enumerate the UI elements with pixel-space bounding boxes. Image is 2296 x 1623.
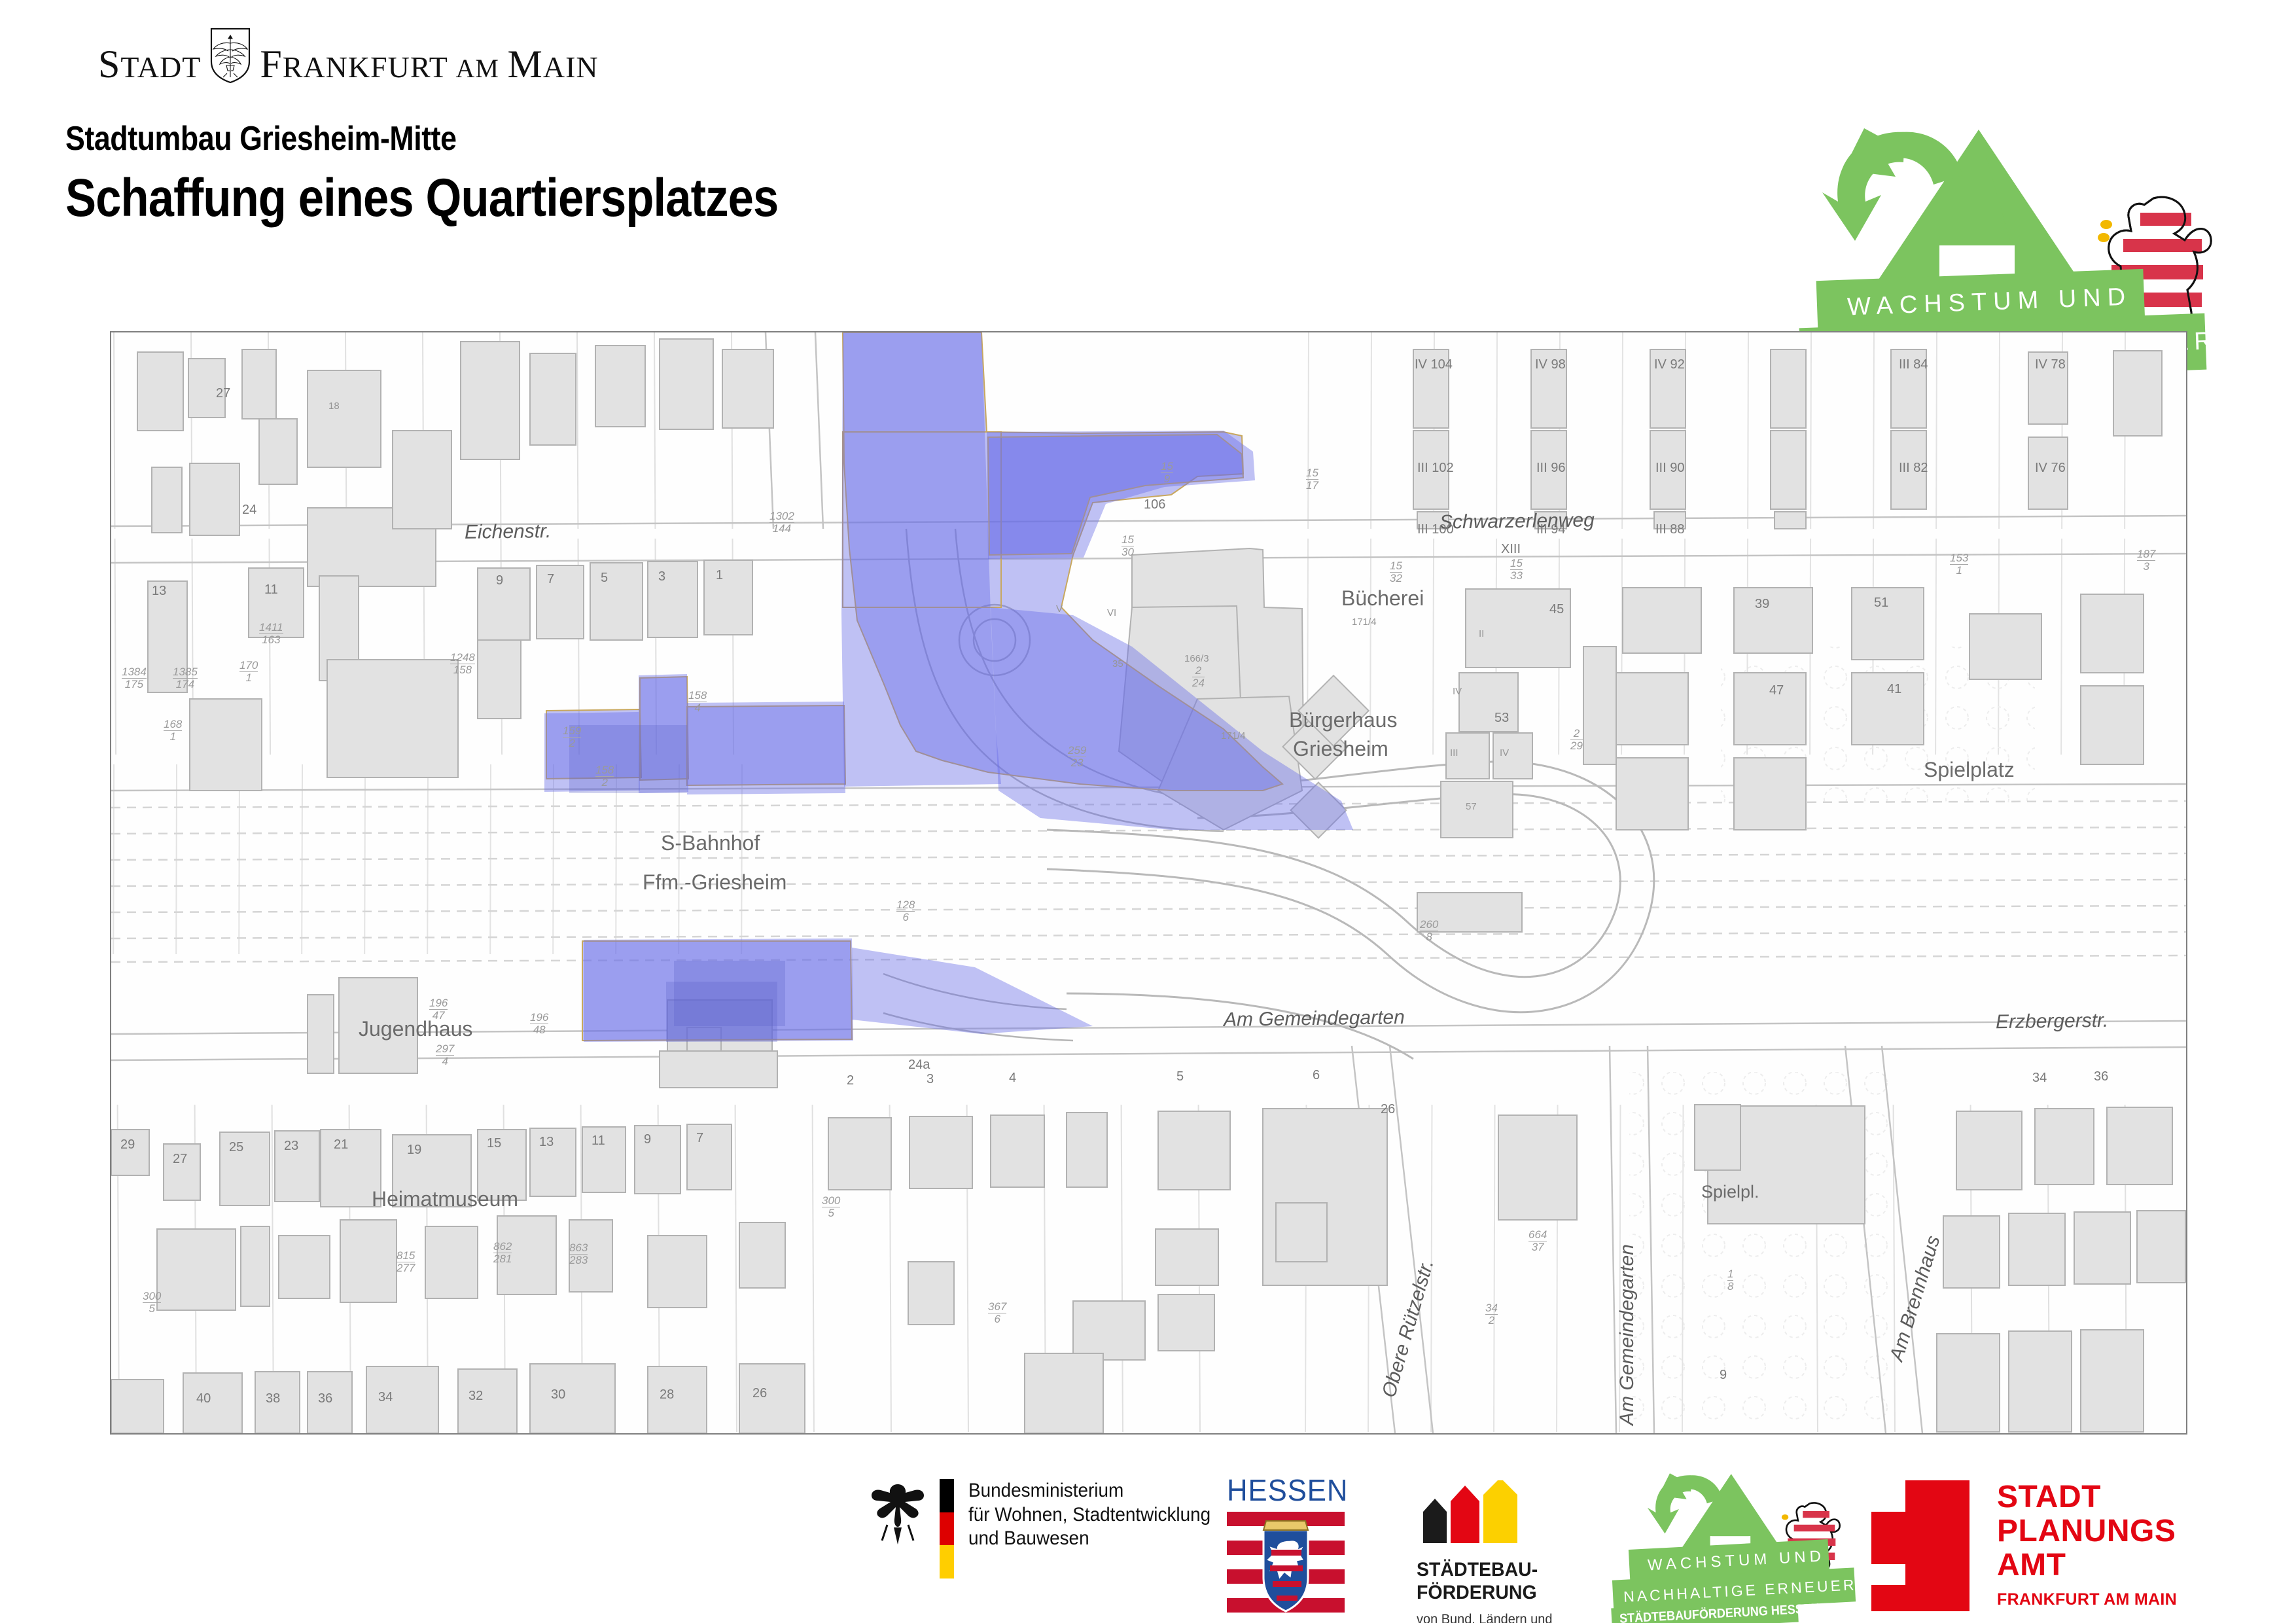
staedtebau-sub1: von Bund, Ländern und [1417, 1611, 1622, 1623]
parcel-fraction-num: 128 [896, 899, 915, 912]
footer-logo-row: Bundesministerium für Wohnen, Stadtentwi… [0, 1466, 2296, 1623]
parcel-fraction: 3676 [988, 1301, 1006, 1325]
parcel-fraction-num: 168 [164, 719, 182, 731]
parcel-fraction: 1531 [1950, 552, 1968, 577]
parcel-fraction-den: 1 [169, 730, 175, 743]
spa-city: FRANKFURT AM MAIN [1997, 1591, 2177, 1609]
house-number: 5 [601, 571, 608, 586]
parcel-fraction: 3005 [143, 1291, 161, 1315]
house-number: 7 [696, 1131, 703, 1146]
title-block: Stadtumbau Griesheim-Mitte Schaffung ein… [65, 119, 894, 229]
parcel-fraction-num: 158 [688, 690, 707, 702]
storey-label: VI [1107, 607, 1116, 618]
parcel-fraction-den: 175 [125, 678, 143, 690]
parcel-fraction: 1302144 [769, 510, 794, 535]
staedtebau-line2: FÖRDERUNG [1417, 1581, 1622, 1604]
parcel-fraction-den: 6 [994, 1313, 1000, 1325]
street-label-am-gemeindegarten-vertical: Am Gemeindegarten [1616, 1244, 1638, 1425]
house-number: 36 [318, 1391, 332, 1406]
parcel-fraction: 1873 [2137, 548, 2155, 573]
parcel-fraction-den: 283 [569, 1254, 588, 1266]
parcel-fraction-num: 1302 [769, 510, 794, 523]
parcel-fraction-num: 158 [595, 764, 614, 777]
house-number: 26 [1381, 1102, 1395, 1117]
house-number: 38 [266, 1391, 280, 1406]
house-number: IV 76 [2035, 461, 2066, 476]
house-number: 1 [716, 568, 723, 583]
parcel-fraction-den: 24 [1192, 677, 1205, 689]
bmwsb-line1: Bundesministerium [968, 1479, 1210, 1503]
stadtplanungsamt-mark-icon [1858, 1480, 1969, 1611]
parcel-fraction: 3005 [822, 1195, 840, 1219]
poi-label-heimatmuseum: Heimatmuseum [372, 1187, 518, 1211]
parcel-fraction: 342 [1485, 1302, 1498, 1327]
parcel-fraction-den: 5 [149, 1302, 154, 1315]
house-number: IV 104 [1415, 357, 1453, 372]
parcel-fraction-den: 23 [1071, 757, 1084, 769]
parcel-fraction-den: 1 [1956, 564, 1962, 577]
parcel-fraction: 862281 [493, 1241, 512, 1265]
frankfurt-eagle-crest-icon [210, 27, 251, 84]
program-logo-footer: WACHSTUM UND NACHHALTIGE ERNEUERUNG STÄD… [1606, 1479, 1881, 1616]
staedtebau-line1: STÄDTEBAU- [1417, 1558, 1622, 1581]
bmwsb-logo: Bundesministerium für Wohnen, Stadtentwi… [870, 1479, 1229, 1578]
house-number: 24 [242, 503, 256, 518]
house-number: 4 [1009, 1071, 1016, 1086]
parcel-fraction-num: 367 [988, 1301, 1006, 1313]
storey-label: 171/4 [1352, 616, 1377, 628]
street-label-am-gemeindegarten: Am Gemeindegarten [1224, 1007, 1405, 1031]
parcel-fraction: 1248158 [450, 652, 475, 676]
map-canvas: Eichenstr. Schwarzerlenweg Am Gemeindega… [111, 332, 2186, 1433]
hessen-wordmark: HESSEN [1227, 1472, 1351, 1508]
parcel-fraction-num: 2 [1192, 665, 1205, 677]
house-number: 11 [264, 582, 278, 597]
house-number: 34 [378, 1390, 393, 1405]
house-number: 15 [487, 1136, 501, 1151]
house-number: 19 [407, 1143, 421, 1158]
storey-label: V [1056, 603, 1063, 615]
parcel-fraction: 66437 [1528, 1229, 1547, 1253]
parcel-fraction-den: 3 [2143, 560, 2149, 573]
parcel-fraction-num: 664 [1528, 1229, 1547, 1241]
house-number: 106 [1144, 497, 1165, 512]
parcel-fraction-num: 1384 [122, 666, 147, 679]
parcel-fraction: 1533 [1510, 558, 1523, 582]
parcel-fraction: 18 [1727, 1268, 1733, 1293]
parcel-fraction-num: 15 [1390, 560, 1402, 573]
storey-label: 171/4 [1221, 730, 1246, 741]
parcel-fraction: 1411163 [259, 622, 283, 646]
stadtplanungsamt-logo: STADT PLANUNGS AMT FRANKFURT AM MAIN [1858, 1480, 2177, 1611]
hessen-state-crest-icon [1227, 1512, 1345, 1620]
parcel-fraction-den: 277 [397, 1262, 415, 1274]
parcel-fraction-num: 187 [2137, 548, 2155, 561]
bmwsb-text: Bundesministerium für Wohnen, Stadtentwi… [968, 1479, 1210, 1551]
parcel-fraction-den: 33 [1510, 569, 1523, 582]
parcel-fraction: 25923 [1068, 745, 1086, 769]
poi-label-griesheim: Griesheim [1293, 737, 1388, 761]
house-number: XIII [1501, 542, 1521, 557]
parcel-fraction-num: 1 [1727, 1268, 1733, 1281]
parcel-fraction: 1584 [688, 690, 707, 714]
house-number: 2 [847, 1073, 854, 1088]
street-label-schwarzerlenweg: Schwarzerlenweg [1439, 509, 1595, 533]
parcel-number: 45 [1549, 602, 1564, 617]
street-label-eichenstr: Eichenstr. [465, 520, 552, 544]
parcel-fraction: 229 [1570, 728, 1583, 752]
house-number: 13 [152, 584, 166, 599]
house-number: III 90 [1655, 461, 1684, 476]
parcel-fraction-den: 8 [1727, 1280, 1733, 1293]
page-title: Schaffung eines Quartiersplatzes [65, 168, 778, 229]
parcel-fraction-num: 862 [493, 1241, 512, 1253]
parcel-fraction-den: 2 [569, 737, 574, 749]
house-number: III 84 [1899, 357, 1928, 372]
parcel-fraction-den: 32 [1390, 572, 1402, 584]
house-number: III 100 [1417, 522, 1454, 537]
parcel-fraction-den: 2 [1489, 1314, 1494, 1327]
house-number: 3 [658, 569, 665, 584]
house-number: III 82 [1899, 461, 1928, 476]
parcel-fraction-num: 300 [143, 1291, 161, 1303]
parcel-fraction-num: 196 [429, 997, 448, 1010]
three-houses-icon [1417, 1480, 1528, 1546]
parcel-fraction-num: 34 [1485, 1302, 1498, 1315]
parcel-fraction-num: 15 [1510, 558, 1523, 570]
house-number: III 94 [1536, 522, 1565, 537]
poster-page: STADT FRANKFURT AM MAIN Stadtumbau Gries… [0, 0, 2296, 1623]
parcel-fraction-den: 17 [1306, 479, 1318, 491]
parcel-fraction-num: 15 [1122, 534, 1134, 546]
house-number: 23 [284, 1139, 298, 1154]
parcel-fraction-num: 1411 [259, 622, 283, 634]
program-line1-text: WACHSTUM UND [1846, 283, 2132, 322]
parcel-fraction-num: 170 [239, 660, 258, 672]
parcel-fraction-num: 260 [1420, 919, 1438, 931]
bmwsb-line2: für Wohnen, Stadtentwicklung [968, 1503, 1210, 1527]
parcel-fraction: 19647 [429, 997, 448, 1022]
parcel-fraction-den: 29 [1570, 740, 1583, 752]
parcel-fraction-den: 158 [453, 664, 472, 676]
parcel-number: 51 [1874, 596, 1888, 611]
parcel-fraction-num: 1248 [450, 652, 475, 664]
parcel-fraction: 1532 [1390, 560, 1402, 584]
parcel-fraction: 159 [1161, 461, 1173, 485]
parcel-fraction-num: 863 [569, 1242, 588, 1255]
house-number: 26 [752, 1386, 767, 1401]
storey-label: 18 [328, 401, 340, 412]
parcel-fraction-num: 153 [1950, 552, 1968, 565]
house-number: IV 98 [1535, 357, 1566, 372]
storey-label: III [1450, 747, 1458, 758]
house-number: 6 [1313, 1068, 1320, 1083]
poi-label-s-bahnhof: S-Bahnhof [661, 831, 760, 855]
house-number: 27 [173, 1152, 187, 1167]
bmwsb-line3: und Bauwesen [968, 1527, 1210, 1551]
parcel-fraction-num: 815 [397, 1250, 415, 1262]
page-subtitle: Stadtumbau Griesheim-Mitte [65, 119, 778, 158]
poi-label-spielpl: Spielpl. [1701, 1182, 1759, 1202]
poi-label-buecherei: Bücherei [1341, 586, 1424, 611]
parcel-fraction: 1530 [1122, 534, 1134, 558]
parcel-fraction-den: 8 [1426, 931, 1432, 943]
german-flag-bar [940, 1479, 954, 1578]
house-number: III 88 [1655, 522, 1684, 537]
parcel-fraction-num: 15 [1161, 461, 1173, 473]
parcel-fraction-den: 174 [176, 678, 194, 690]
parcel-fraction-den: 37 [1532, 1241, 1544, 1253]
parcel-fraction-den: 144 [773, 522, 791, 535]
parcel-fraction-den: 4 [694, 702, 700, 714]
house-number: 40 [196, 1391, 211, 1406]
house-number: 13 [539, 1135, 554, 1150]
house-number: IV 78 [2035, 357, 2066, 372]
house-number: 21 [334, 1137, 348, 1152]
house-number: 36 [2094, 1069, 2108, 1084]
parcel-fraction-num: 300 [822, 1195, 840, 1207]
parcel-fraction-num: 196 [530, 1012, 548, 1024]
parcel-fraction-den: 4 [442, 1055, 448, 1067]
parcel-fraction-den: 9 [1164, 473, 1170, 485]
spa-line1: STADT [1997, 1480, 2177, 1514]
house-number: IV 92 [1654, 357, 1685, 372]
spa-line2: PLANUNGS [1997, 1514, 2177, 1548]
parcel-number: 41 [1887, 682, 1901, 697]
parcel-number: 39 [1755, 597, 1769, 612]
house-number: 27 [216, 386, 230, 401]
parcel-fraction-den: 6 [902, 911, 908, 923]
city-logo-left-text: STADT [98, 45, 201, 84]
storey-label: IV [1453, 686, 1462, 697]
parcel-number: 53 [1494, 711, 1509, 726]
poi-label-ffm-griesheim: Ffm.-Griesheim [643, 870, 786, 895]
poi-label-jugendhaus: Jugendhaus [359, 1017, 472, 1041]
parcel-fraction: 1592 [563, 725, 581, 749]
parcel-fraction-num: 259 [1068, 745, 1086, 757]
stadtplanungsamt-text: STADT PLANUNGS AMT FRANKFURT AM MAIN [1997, 1480, 2177, 1609]
house-number: III 102 [1417, 461, 1454, 476]
parcel-fraction-num: 1385 [173, 666, 198, 679]
parcel-fraction-den: 30 [1122, 546, 1134, 558]
house-number: 28 [660, 1387, 674, 1402]
parcel-fraction: 2974 [436, 1043, 454, 1067]
parcel-number: 9 [1720, 1368, 1727, 1383]
parcel-fraction: 1582 [595, 764, 614, 789]
parcel-fraction: 1385174 [173, 666, 198, 690]
parcel-number: 47 [1769, 683, 1784, 698]
spa-line3: AMT [1997, 1548, 2177, 1582]
house-number: 32 [468, 1389, 483, 1404]
parcel-fraction-den: 2 [601, 776, 607, 789]
storey-label: II [1479, 628, 1484, 639]
poi-label-spielplatz: Spielplatz [1924, 758, 2015, 782]
storey-label: 35 [1112, 658, 1123, 669]
parcel-number: 24a [908, 1058, 930, 1073]
parcel-fraction-num: 297 [436, 1043, 454, 1056]
parcel-fraction-den: 48 [533, 1024, 546, 1036]
parcel-fraction-num: 15 [1306, 467, 1318, 480]
parcel-fraction-den: 1 [245, 671, 251, 684]
cadastral-map[interactable]: Eichenstr. Schwarzerlenweg Am Gemeindega… [110, 331, 2187, 1435]
hessen-logo: HESSEN [1227, 1472, 1358, 1623]
street-label-erzbergerstr: Erzbergerstr. [1996, 1010, 2109, 1033]
house-number: 9 [644, 1132, 651, 1147]
house-number: 9 [496, 573, 503, 588]
parcel-fraction: 815277 [397, 1250, 415, 1274]
house-number: 30 [551, 1387, 565, 1402]
parcel-fraction-num: 2 [1570, 728, 1583, 740]
storey-label: 166/3 [1184, 653, 1209, 664]
city-of-frankfurt-logo: STADT FRANKFURT AM MAIN [98, 27, 599, 84]
house-number: 25 [229, 1140, 243, 1155]
parcel-fraction-den: 163 [262, 633, 280, 646]
city-logo-right-text: FRANKFURT AM MAIN [260, 45, 598, 84]
poi-label-buergerhaus: Bürgerhaus [1289, 708, 1397, 732]
parcel-fraction: 1384175 [122, 666, 147, 690]
storey-label: 57 [1466, 801, 1477, 812]
parcel-fraction: 1701 [239, 660, 258, 684]
parcel-fraction: 863283 [569, 1242, 588, 1266]
house-number: III 96 [1536, 461, 1565, 476]
parcel-fraction-den: 281 [493, 1253, 512, 1265]
staedtebaufoerderung-logo: STÄDTEBAU- FÖRDERUNG von Bund, Ländern u… [1417, 1480, 1633, 1623]
house-number: 3 [927, 1072, 934, 1087]
parcel-fraction-den: 47 [433, 1009, 445, 1022]
house-number: 34 [2032, 1071, 2047, 1086]
parcel-fraction: 2608 [1420, 919, 1438, 943]
parcel-fraction: 224 [1192, 665, 1205, 689]
parcel-fraction: 1517 [1306, 467, 1318, 491]
house-number: 5 [1176, 1069, 1184, 1084]
storey-label: IV [1500, 747, 1509, 758]
parcel-fraction: 19648 [530, 1012, 548, 1036]
house-number: 11 [592, 1133, 605, 1149]
parcel-fraction-den: 5 [828, 1207, 834, 1219]
parcel-fraction-num: 159 [563, 725, 581, 738]
house-number: 7 [547, 572, 554, 587]
bundesadler-icon [870, 1479, 925, 1551]
parcel-fraction: 1681 [164, 719, 182, 743]
house-number: 29 [120, 1137, 135, 1152]
parcel-fraction: 1286 [896, 899, 915, 923]
